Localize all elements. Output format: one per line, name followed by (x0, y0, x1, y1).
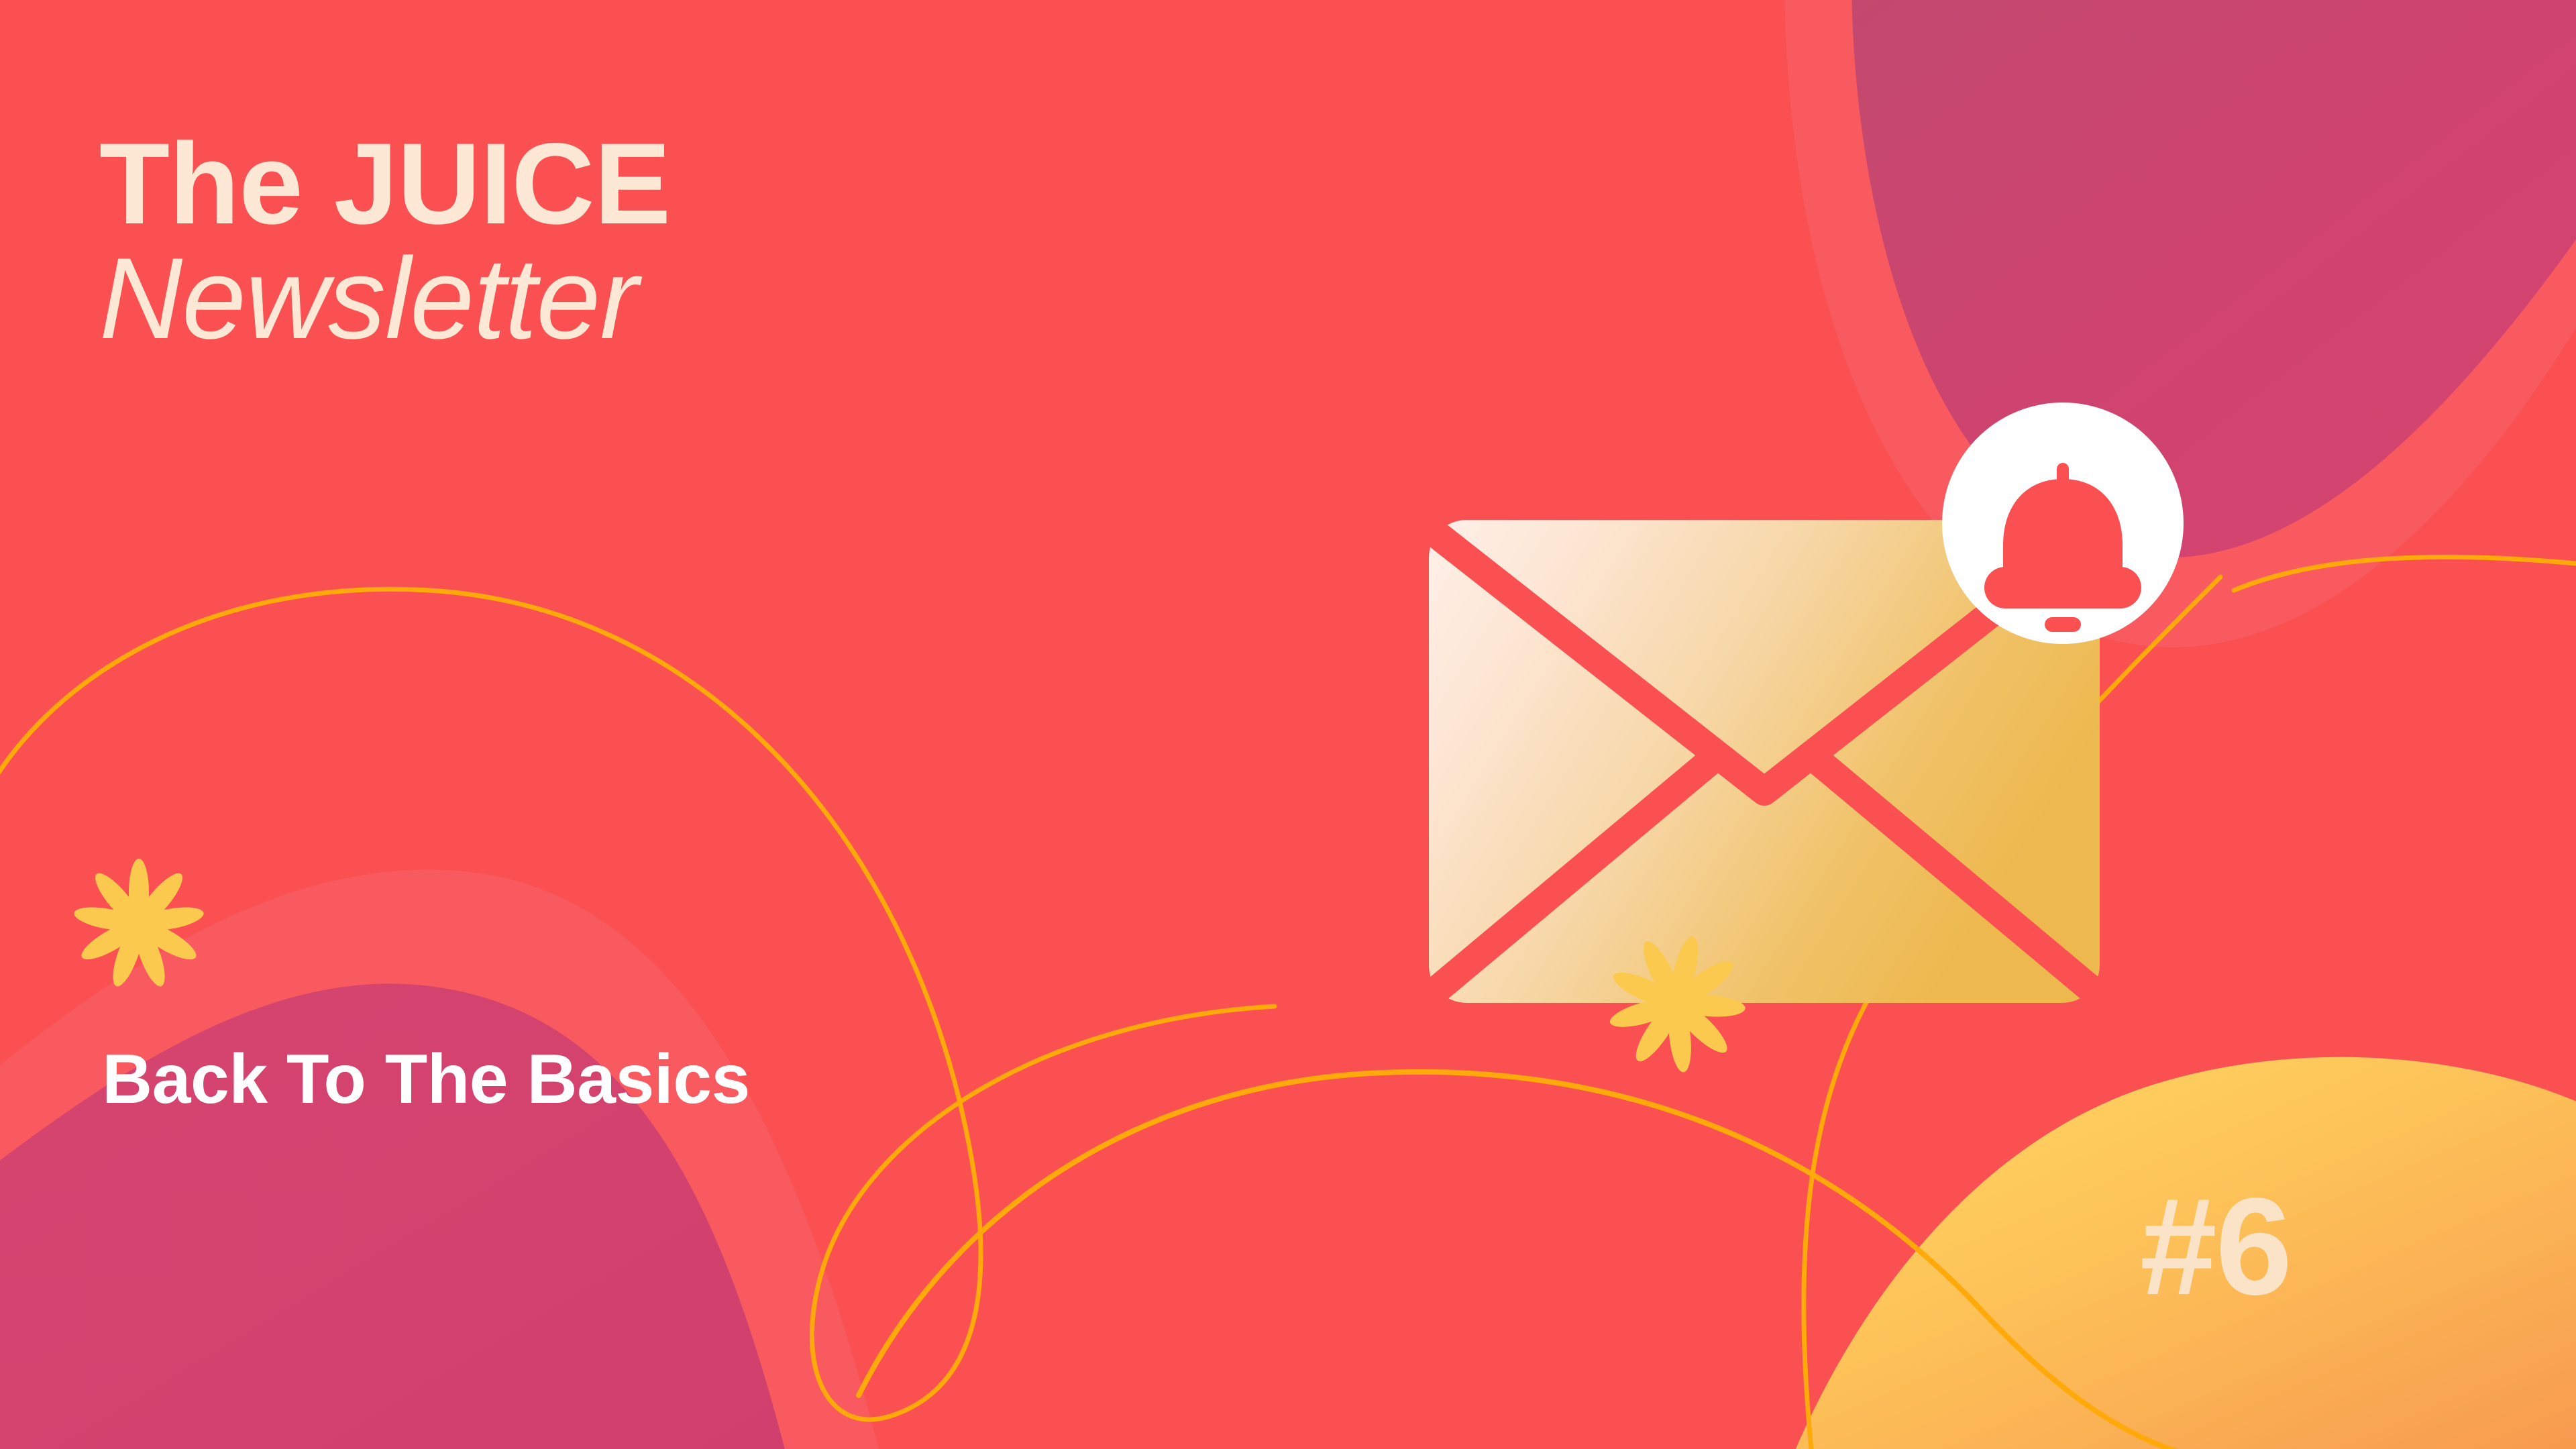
bell-badge (1942, 402, 2184, 644)
background-illustration (0, 0, 2576, 1449)
newsletter-banner: The JUICE Newsletter Back To The Basics … (0, 0, 2576, 1449)
